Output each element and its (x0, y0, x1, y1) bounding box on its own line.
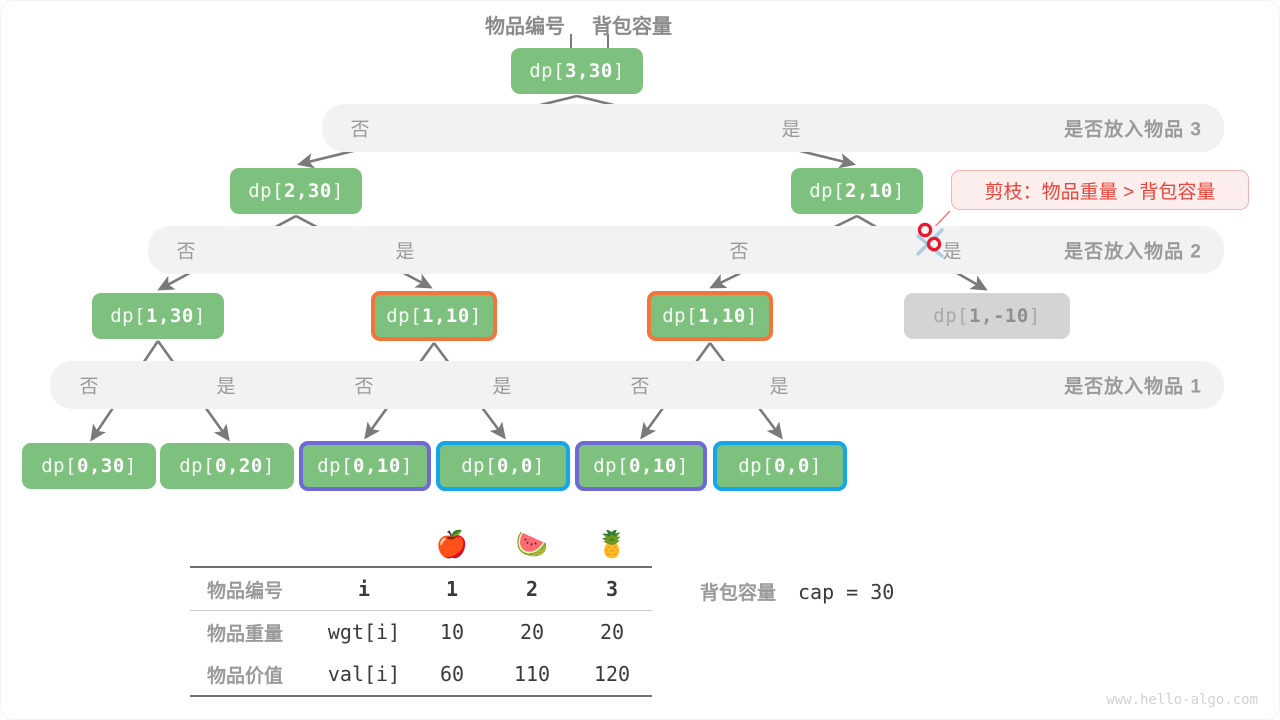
cell-wgt-3: 20 (572, 611, 652, 654)
node-key: 0,0 (774, 455, 810, 477)
node-key: 0,20 (215, 455, 263, 477)
node-prefix: dp[ (933, 305, 969, 327)
table-row-emoji: 🍎 🍉 🍍 (190, 522, 652, 567)
cell-wgt: wgt[i] (316, 611, 412, 654)
watermark: www.hello-algo.com (1106, 692, 1258, 708)
apple-icon: 🍎 (436, 529, 468, 559)
node-suffix: ] (125, 455, 137, 477)
branch-label-no: 否 (350, 115, 369, 142)
node-key: 0,30 (77, 455, 125, 477)
cell-wgt-1: 10 (412, 611, 492, 654)
node-key: 0,10 (629, 455, 677, 477)
node-prefix: dp[ (738, 455, 774, 477)
cell-wgt-2: 20 (492, 611, 572, 654)
items-table: 🍎 🍉 🍍 物品编号 i 1 2 3 物品重量 wgt[i] 10 20 20 … (190, 522, 652, 697)
node-key: 1,30 (146, 305, 194, 327)
node-suffix: ] (194, 305, 206, 327)
node-key: 3,30 (565, 60, 613, 82)
row-label-item-index: 物品编号 (190, 567, 316, 611)
branch-label-no: 否 (176, 237, 195, 264)
node-suffix: ] (470, 305, 482, 327)
table-row-value: 物品价值 val[i] 60 110 120 (190, 653, 652, 696)
node-suffix: ] (263, 455, 275, 477)
node-suffix: ] (533, 455, 545, 477)
row-label-item-weight: 物品重量 (190, 611, 316, 654)
node-prefix: dp[ (593, 455, 629, 477)
node-prefix: dp[ (110, 305, 146, 327)
cell-val-3: 120 (572, 653, 652, 696)
branch-label-no: 否 (630, 372, 649, 399)
level-bar-item-1: 否 是 否 是 否 是 是否放入物品 1 (50, 361, 1224, 409)
cell-index-2: 2 (492, 567, 572, 611)
node-suffix: ] (332, 180, 344, 202)
branch-label-no: 否 (729, 237, 748, 264)
node-suffix: ] (810, 455, 822, 477)
tree-node-dp-0-0-left[interactable]: dp[0,0] (436, 441, 570, 491)
watermelon-icon: 🍉 (516, 529, 548, 559)
table-row-weight: 物品重量 wgt[i] 10 20 20 (190, 611, 652, 654)
node-suffix: ] (893, 180, 905, 202)
cell-val-2: 110 (492, 653, 572, 696)
node-key: 2,10 (845, 180, 893, 202)
tree-node-dp-0-10-right[interactable]: dp[0,10] (575, 441, 707, 491)
capacity-value: cap = 30 (798, 580, 894, 604)
level-title-3: 是否放入物品 3 (1064, 115, 1202, 142)
node-suffix: ] (677, 455, 689, 477)
level-bar-item-3: 否 是 是否放入物品 3 (322, 104, 1224, 152)
scissors-icon (912, 222, 954, 264)
tree-node-dp-1-10-left[interactable]: dp[1,10] (371, 291, 497, 341)
tree-node-dp-0-0-right[interactable]: dp[0,0] (713, 441, 847, 491)
node-prefix: dp[ (662, 305, 698, 327)
table-row-index: 物品编号 i 1 2 3 (190, 567, 652, 611)
branch-label-yes: 是 (492, 372, 511, 399)
node-suffix: ] (613, 60, 625, 82)
cell-index-3: 3 (572, 567, 652, 611)
level-bar-item-2: 否 是 否 是 是否放入物品 2 (148, 226, 1224, 274)
branch-label-yes: 是 (781, 115, 800, 142)
tree-node-dp-1-30[interactable]: dp[1,30] (92, 293, 224, 339)
level-title-2: 是否放入物品 2 (1064, 237, 1202, 264)
node-key: 2,30 (284, 180, 332, 202)
cell-val: val[i] (316, 653, 412, 696)
node-prefix: dp[ (386, 305, 422, 327)
node-key: 1,-10 (969, 305, 1029, 327)
branch-label-yes: 是 (395, 237, 414, 264)
pineapple-icon: 🍍 (596, 529, 628, 559)
capacity-label: 背包容量 (700, 583, 776, 604)
node-suffix: ] (1029, 305, 1041, 327)
tree-node-dp-0-30[interactable]: dp[0,30] (22, 443, 156, 489)
node-prefix: dp[ (41, 455, 77, 477)
node-key: 1,10 (698, 305, 746, 327)
tree-node-dp-0-20[interactable]: dp[0,20] (160, 443, 294, 489)
row-label-item-value: 物品价值 (190, 653, 316, 696)
node-prefix: dp[ (529, 60, 565, 82)
node-suffix: ] (746, 305, 758, 327)
node-key: 1,10 (422, 305, 470, 327)
diagram-canvas: 物品编号 背包容量 否 是 是否放入物品 3 否 是 否 是 是否放入物品 2 … (0, 0, 1280, 720)
branch-label-no: 否 (79, 372, 98, 399)
node-prefix: dp[ (809, 180, 845, 202)
branch-label-no: 否 (354, 372, 373, 399)
tree-node-dp-0-10-left[interactable]: dp[0,10] (299, 441, 431, 491)
tree-node-dp-2-30[interactable]: dp[2,30] (230, 168, 362, 214)
annotation-item-index: 物品编号 (485, 10, 565, 39)
node-prefix: dp[ (317, 455, 353, 477)
tree-node-dp-2-10[interactable]: dp[2,10] (791, 168, 923, 214)
branch-label-yes: 是 (216, 372, 235, 399)
cell-val-1: 60 (412, 653, 492, 696)
capacity-info: 背包容量cap = 30 (700, 578, 894, 605)
annotation-bag-capacity: 背包容量 (592, 10, 672, 39)
tree-node-dp-3-30[interactable]: dp[3,30] (511, 48, 643, 94)
branch-label-yes: 是 (769, 372, 788, 399)
node-prefix: dp[ (248, 180, 284, 202)
level-title-1: 是否放入物品 1 (1064, 372, 1202, 399)
prune-callout: 剪枝：物品重量 > 背包容量 (951, 170, 1249, 210)
cell-index-1: 1 (412, 567, 492, 611)
cell-i: i (316, 567, 412, 611)
node-suffix: ] (401, 455, 413, 477)
tree-node-dp-1-minus10-pruned[interactable]: dp[1,-10] (904, 293, 1070, 339)
node-prefix: dp[ (461, 455, 497, 477)
node-prefix: dp[ (179, 455, 215, 477)
tree-node-dp-1-10-right[interactable]: dp[1,10] (647, 291, 773, 341)
node-key: 0,10 (353, 455, 401, 477)
node-key: 0,0 (497, 455, 533, 477)
